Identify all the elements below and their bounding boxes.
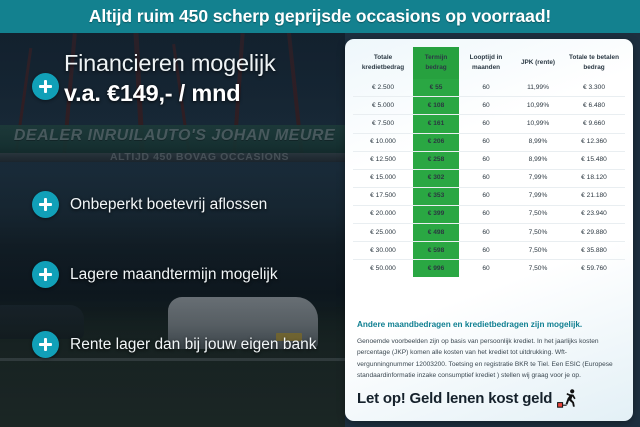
table-cell: € 5.000 (353, 97, 413, 115)
rates-table-body: € 2.500€ 556011,99%€ 3.300€ 5.000€ 10860… (353, 79, 625, 277)
table-cell: € 29.880 (563, 223, 625, 241)
table-cell: € 7.500 (353, 115, 413, 133)
table-cell: € 598 (413, 242, 459, 260)
table-cell: € 55 (413, 79, 459, 97)
advertisement-banner: Altijd ruim 450 scherp geprijsde occasio… (0, 0, 640, 427)
running-man-ball-and-chain-icon (557, 388, 579, 408)
hero-panel: DEALER INRUILAUTO'S JOHAN MEURE ALTIJD 4… (0, 33, 345, 427)
rates-table: Totale kredietbedragTermijn bedragLoopti… (353, 47, 625, 277)
table-cell: € 18.120 (563, 169, 625, 187)
table-cell: 60 (459, 115, 513, 133)
table-cell: € 25.000 (353, 223, 413, 241)
table-cell: € 996 (413, 260, 459, 278)
table-cell: € 6.480 (563, 97, 625, 115)
table-row: € 50.000€ 996607,50%€ 59.760 (353, 260, 625, 278)
table-cell: € 21.180 (563, 187, 625, 205)
table-row: € 30.000€ 598607,50%€ 35.880 (353, 242, 625, 260)
table-cell: 10,99% (513, 97, 563, 115)
table-row: € 25.000€ 498607,50%€ 29.880 (353, 223, 625, 241)
table-header-cell: Totale te betalen bedrag (563, 47, 625, 79)
footer-disclaimer: Genoemde voorbeelden zijn op basis van p… (357, 336, 621, 381)
table-cell: 60 (459, 260, 513, 278)
table-cell: 60 (459, 242, 513, 260)
table-cell: € 498 (413, 223, 459, 241)
table-cell: 8,99% (513, 133, 563, 151)
table-cell: € 50.000 (353, 260, 413, 278)
table-cell: 8,99% (513, 151, 563, 169)
table-header-row: Totale kredietbedragTermijn bedragLoopti… (353, 47, 625, 79)
table-cell: € 23.940 (563, 205, 625, 223)
plus-icon (32, 331, 59, 358)
credit-warning: Let op! Geld lenen kost geld (357, 388, 621, 408)
table-cell: € 108 (413, 97, 459, 115)
table-cell: € 3.300 (563, 79, 625, 97)
plus-icon (32, 73, 59, 100)
feature-bullet-label: Lagere maandtermijn mogelijk (70, 266, 278, 283)
table-cell: 60 (459, 223, 513, 241)
feature-bullet-label: Rente lager dan bij jouw eigen bank (70, 336, 316, 353)
table-row: € 10.000€ 206608,99%€ 12.360 (353, 133, 625, 151)
table-cell: 10,99% (513, 115, 563, 133)
table-header-cell: Totale kredietbedrag (353, 47, 413, 79)
table-row: € 17.500€ 353607,99%€ 21.180 (353, 187, 625, 205)
table-header-cell: JPK (rente) (513, 47, 563, 79)
table-cell: 60 (459, 169, 513, 187)
table-cell: 7,99% (513, 169, 563, 187)
table-cell: € 2.500 (353, 79, 413, 97)
table-row: € 20.000€ 399607,50%€ 23.940 (353, 205, 625, 223)
table-row: € 12.500€ 258608,99%€ 15.480 (353, 151, 625, 169)
table-cell: 7,50% (513, 260, 563, 278)
feature-bullet-3: Rente lager dan bij jouw eigen bank (32, 331, 316, 358)
table-cell: € 10.000 (353, 133, 413, 151)
table-cell: 7,99% (513, 187, 563, 205)
table-cell: € 206 (413, 133, 459, 151)
plus-icon (32, 191, 59, 218)
headline-line-1: Financieren mogelijk (64, 51, 340, 76)
table-cell: 60 (459, 205, 513, 223)
credit-warning-text: Let op! Geld lenen kost geld (357, 390, 552, 407)
table-row: € 2.500€ 556011,99%€ 3.300 (353, 79, 625, 97)
table-cell: 60 (459, 79, 513, 97)
table-cell: € 161 (413, 115, 459, 133)
rates-table-wrapper: Totale kredietbedragTermijn bedragLoopti… (353, 47, 625, 277)
hero-headline-bullet (32, 73, 59, 100)
table-cell: 60 (459, 133, 513, 151)
feature-bullet-1: Onbeperkt boetevrij aflossen (32, 191, 267, 218)
hero-headline: Financieren mogelijk v.a. €149,- / mnd (64, 51, 340, 105)
table-cell: 60 (459, 97, 513, 115)
table-cell: 7,50% (513, 242, 563, 260)
rates-table-head: Totale kredietbedragTermijn bedragLoopti… (353, 47, 625, 79)
table-cell: € 399 (413, 205, 459, 223)
table-cell: € 35.880 (563, 242, 625, 260)
top-banner-text: Altijd ruim 450 scherp geprijsde occasio… (89, 6, 551, 27)
table-cell: € 15.000 (353, 169, 413, 187)
plus-icon (32, 261, 59, 288)
top-banner: Altijd ruim 450 scherp geprijsde occasio… (0, 0, 640, 33)
table-row: € 5.000€ 1086010,99%€ 6.480 (353, 97, 625, 115)
feature-bullet-2: Lagere maandtermijn mogelijk (32, 261, 278, 288)
table-cell: € 12.360 (563, 133, 625, 151)
table-cell: € 59.760 (563, 260, 625, 278)
table-row: € 7.500€ 1616010,99%€ 9.660 (353, 115, 625, 133)
table-cell: 7,50% (513, 223, 563, 241)
table-cell: € 258 (413, 151, 459, 169)
table-header-cell: Looptijd in maanden (459, 47, 513, 79)
table-cell: 11,99% (513, 79, 563, 97)
table-cell: € 15.480 (563, 151, 625, 169)
table-row: € 15.000€ 302607,99%€ 18.120 (353, 169, 625, 187)
table-cell: € 9.660 (563, 115, 625, 133)
footer-title: Andere maandbedragen en kredietbedragen … (357, 320, 621, 331)
table-cell: 60 (459, 187, 513, 205)
table-cell: 7,50% (513, 205, 563, 223)
headline-line-2: v.a. €149,- / mnd (64, 81, 340, 106)
table-cell: € 12.500 (353, 151, 413, 169)
table-cell: € 17.500 (353, 187, 413, 205)
table-cell: € 20.000 (353, 205, 413, 223)
feature-bullet-label: Onbeperkt boetevrij aflossen (70, 196, 267, 213)
table-cell: 60 (459, 151, 513, 169)
table-cell: € 302 (413, 169, 459, 187)
table-cell: € 353 (413, 187, 459, 205)
rates-card: Totale kredietbedragTermijn bedragLoopti… (345, 39, 633, 421)
table-cell: € 30.000 (353, 242, 413, 260)
table-header-cell: Termijn bedrag (413, 47, 459, 79)
